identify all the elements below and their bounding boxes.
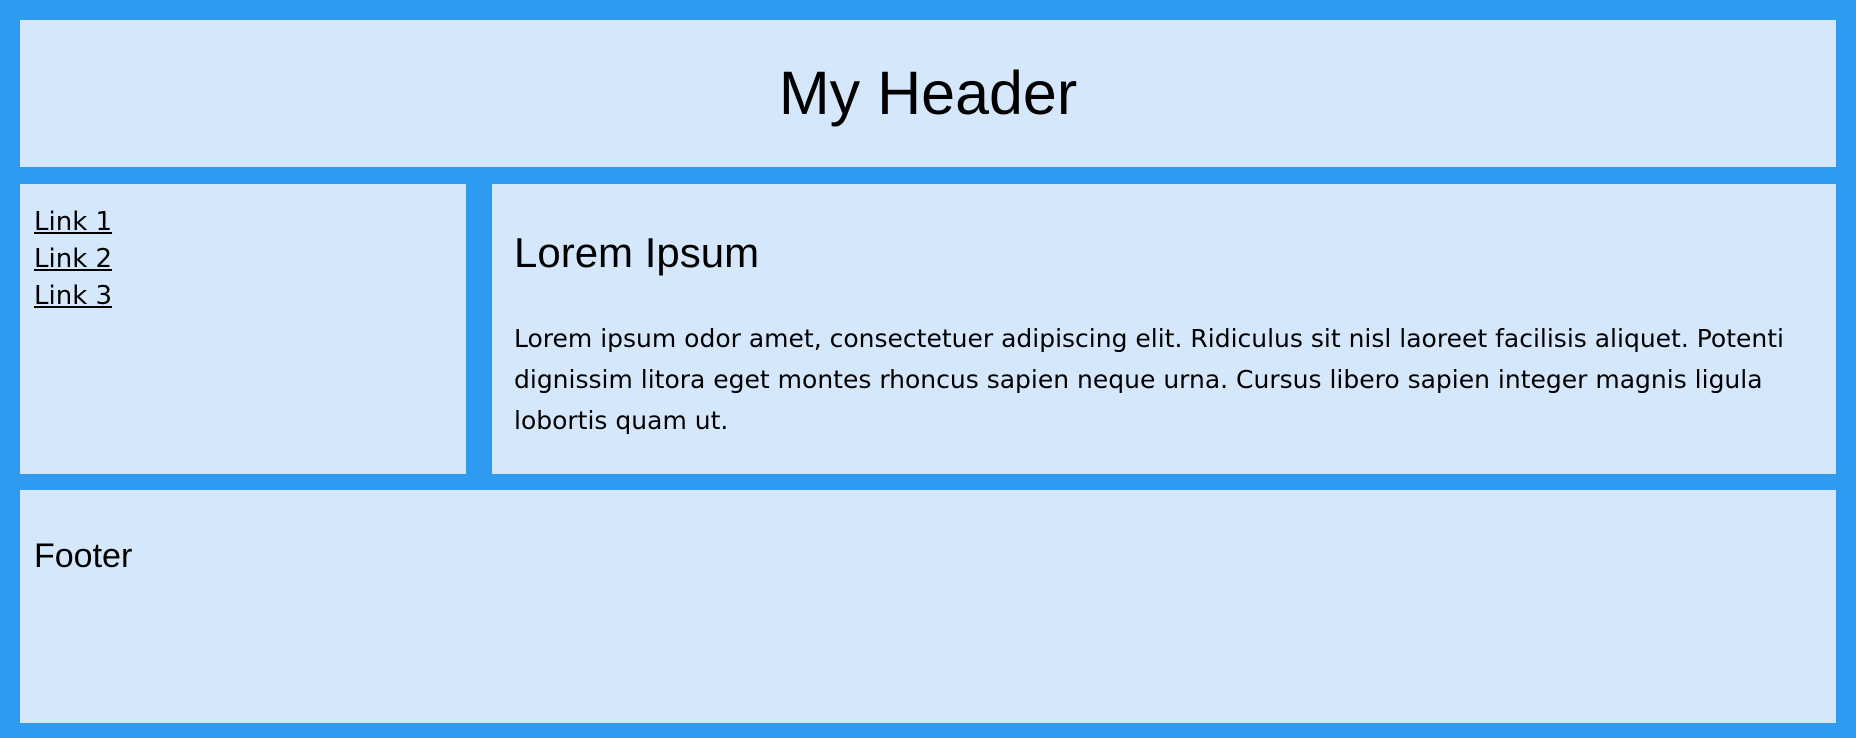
page-title: My Header <box>779 63 1077 124</box>
list-item: Link 2 <box>34 241 452 278</box>
column-gutter <box>466 184 492 474</box>
sidebar-item-link-2[interactable]: Link 2 <box>34 241 112 278</box>
sidebar-item-link-3[interactable]: Link 3 <box>34 278 112 315</box>
page-footer: Footer <box>20 490 1836 723</box>
sidebar-item-link-1[interactable]: Link 1 <box>34 204 112 241</box>
nav-link-list: Link 1 Link 2 Link 3 <box>34 204 452 315</box>
content-row: Link 1 Link 2 Link 3 Lorem Ipsum Lorem i… <box>20 184 1836 474</box>
main-content: Lorem Ipsum Lorem ipsum odor amet, conse… <box>492 184 1836 474</box>
sidebar-nav: Link 1 Link 2 Link 3 <box>20 184 466 474</box>
main-paragraph: Lorem ipsum odor amet, consectetuer adip… <box>514 318 1804 441</box>
main-heading: Lorem Ipsum <box>514 230 1806 276</box>
page-header: My Header <box>20 20 1836 167</box>
list-item: Link 1 <box>34 204 452 241</box>
list-item: Link 3 <box>34 278 452 315</box>
footer-text: Footer <box>34 538 1836 575</box>
page-frame: My Header Link 1 Link 2 Link 3 Lorem Ips… <box>0 0 1856 738</box>
